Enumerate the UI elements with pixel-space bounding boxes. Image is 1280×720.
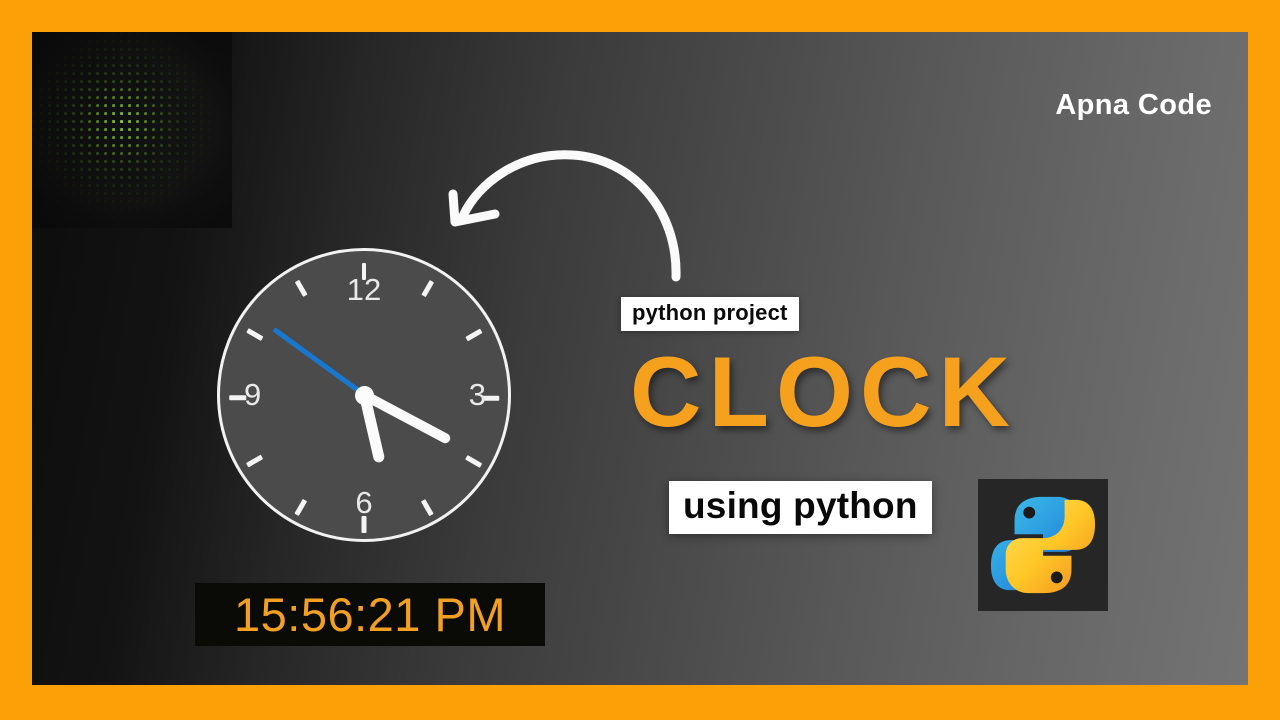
clock-tick: [246, 455, 263, 467]
page-title: CLOCK: [630, 342, 1017, 441]
clock-tick: [246, 329, 263, 341]
clock-tick: [465, 455, 482, 467]
python-logo-icon: [989, 491, 1097, 599]
clock-tick: [465, 329, 482, 341]
thumbnail-canvas: Apna Code 12 3 6 9 15:56:21 P: [0, 0, 1280, 720]
project-tag-label: python project: [621, 297, 799, 331]
analog-clock: 12 3 6 9: [217, 248, 511, 542]
halftone-dot-glow-decoration: [32, 32, 227, 222]
clock-center-hub: [355, 386, 374, 405]
subtitle-tag-label: using python: [669, 481, 932, 534]
content-panel: Apna Code 12 3 6 9 15:56:21 P: [32, 32, 1248, 685]
digital-clock-time: 15:56:21 PM: [234, 591, 506, 638]
brand-name: Apna Code: [1055, 89, 1212, 122]
digital-clock-display: 15:56:21 PM: [195, 583, 545, 646]
clock-numeral-12: 12: [347, 274, 381, 305]
clock-tick: [421, 280, 433, 297]
halftone-glow-vignette: [32, 32, 232, 228]
clock-numeral-6: 6: [355, 487, 372, 518]
curved-arrow-icon: [432, 132, 712, 317]
clock-tick: [295, 499, 307, 516]
clock-second-hand: [272, 327, 366, 397]
clock-tick: [295, 280, 307, 297]
clock-tick: [421, 499, 433, 516]
clock-numeral-3: 3: [469, 379, 486, 410]
python-logo-tile: [978, 479, 1108, 611]
clock-numeral-9: 9: [244, 379, 261, 410]
